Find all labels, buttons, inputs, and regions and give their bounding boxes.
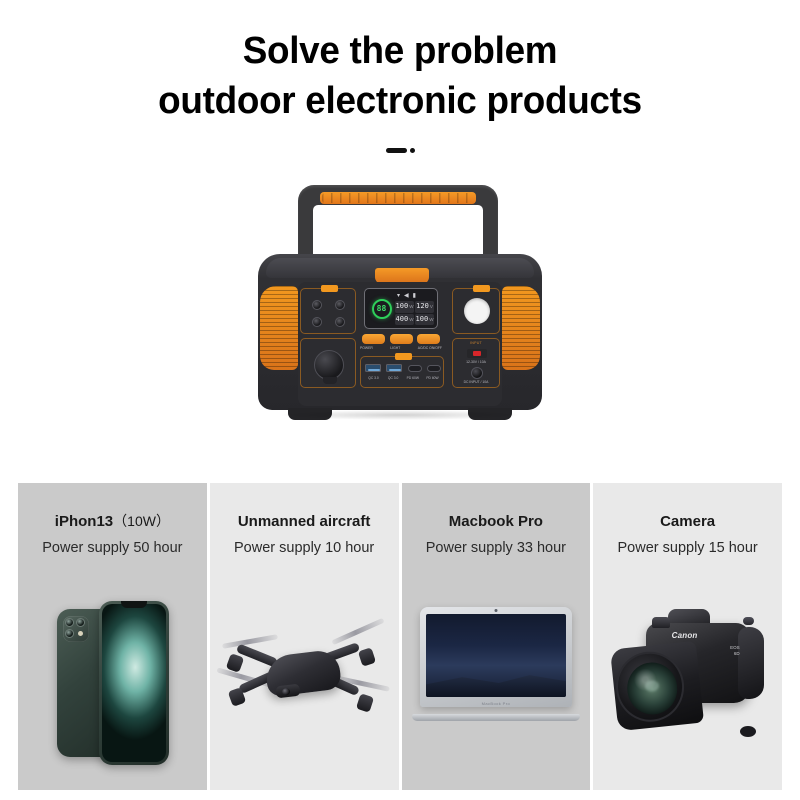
card-subtitle: Power supply 33 hour: [402, 540, 591, 557]
flash-icon: [78, 631, 83, 636]
portable-power-station-image: 88 ▾ ◀ ▮ 100 W: [258, 182, 542, 422]
laptop-image: MacBook Pro: [412, 607, 580, 725]
device-card-camera[interactable]: Camera Power supply 15 hour Canon EOS 6D: [593, 483, 782, 790]
port-label: PD 60W: [404, 376, 421, 380]
drone-motor: [356, 693, 374, 713]
dot-icon: [410, 148, 415, 153]
phone-front: [99, 601, 169, 765]
webcam-icon: [494, 609, 497, 612]
card-title: iPhon13（10W）: [18, 513, 207, 531]
card-art: [210, 575, 399, 790]
card-title: Camera: [593, 513, 782, 531]
gimbal-camera-icon: [275, 684, 300, 699]
drone-motor: [358, 647, 376, 667]
readout-value: 120: [416, 303, 429, 310]
card-title: Macbook Pro: [402, 513, 591, 531]
readout-cell: 100 W: [415, 314, 434, 326]
camera-grip: [738, 627, 764, 699]
card-subtitle: Power supply 15 hour: [593, 540, 782, 557]
laptop-wordmark: MacBook Pro: [420, 701, 572, 706]
battery-percent-value: 88: [377, 305, 387, 313]
card-title: Unmanned aircraft: [210, 513, 399, 531]
camera-module-icon: [63, 616, 89, 642]
ac-socket-icon: [464, 298, 490, 324]
lens-ring: [612, 648, 687, 725]
laptop-lid: MacBook Pro: [420, 607, 572, 707]
shutter-button-icon: [743, 617, 754, 625]
display-status-icons: ▾ ◀ ▮: [395, 292, 434, 300]
drone-image: [214, 615, 394, 740]
card-title-text: Camera: [660, 513, 715, 530]
device-shadow: [282, 410, 518, 420]
dc-jack-icon: [312, 317, 322, 327]
usb-port-panel: QC 3.0 QC 3.0 PD 60W PD 60W: [360, 356, 444, 388]
hero-product-section: 88 ▾ ◀ ▮ 100 W: [0, 182, 800, 432]
input-jack-label: DC INPUT / 10A: [453, 380, 499, 384]
power-button-label: POWER: [360, 346, 373, 350]
ac-icon: ◀: [404, 293, 409, 299]
card-art: [18, 575, 207, 790]
readout-unit: W: [429, 317, 433, 322]
lens-highlight: [644, 680, 659, 692]
usb-a-port-icon: [365, 364, 381, 372]
power-switch-icon: [467, 349, 487, 358]
camera-lens-icon: [76, 618, 85, 627]
card-subtitle: Power supply 10 hour: [210, 540, 399, 557]
headline-line-1: Solve the problem: [12, 26, 788, 76]
card-title-text: Macbook Pro: [449, 513, 543, 530]
card-title-suffix: （10W）: [113, 513, 170, 529]
button-row: [362, 334, 440, 346]
display-readouts: 100 W 120 V 400 W: [395, 301, 434, 325]
camera-brand-label: Canon: [672, 631, 698, 640]
device-card-drone[interactable]: Unmanned aircraft Power supply 10 hour: [210, 483, 399, 790]
dc-input-jack-icon: [471, 367, 483, 379]
usb-port-labels: QC 3.0 QC 3.0 PD 60W PD 60W: [365, 376, 441, 380]
card-art: Canon EOS 6D: [593, 575, 782, 790]
battery-gauge: 88: [368, 292, 395, 325]
port-label: PD 60W: [424, 376, 441, 380]
dc-jack-icon: [335, 300, 345, 310]
page-headline: Solve the problem outdoor electronic pro…: [0, 0, 800, 126]
camera-lens-barrel: [610, 641, 704, 732]
ac-dc-button[interactable]: [417, 334, 440, 344]
dc-jack-icon: [312, 300, 322, 310]
readout-unit: V: [430, 304, 433, 309]
light-button-label: LIGHT: [390, 346, 400, 350]
propeller-icon: [332, 618, 385, 645]
dslr-camera-image: Canon EOS 6D: [606, 601, 770, 751]
readout-value: 100: [416, 316, 429, 323]
control-face: 88 ▾ ◀ ▮ 100 W: [298, 282, 502, 406]
usb-c-port-icon: [427, 365, 441, 372]
input-switch-label: 12-30V / 10A: [453, 360, 499, 364]
camera-lens-icon: [65, 629, 74, 638]
device-card-iphone[interactable]: iPhon13（10W） Power supply 50 hour: [18, 483, 207, 790]
camera-port-cover: [740, 726, 756, 737]
port-label: QC 3.0: [365, 376, 382, 380]
dc-output-panel: [300, 288, 356, 334]
usb-ports: [365, 364, 441, 372]
usb-a-port-icon: [386, 364, 402, 372]
input-panel: INPUT 12-30V / 10A DC INPUT / 10A: [452, 338, 500, 388]
battery-icon: ▮: [413, 293, 416, 299]
ac-outlet-panel: [452, 288, 500, 334]
camera-model-label: EOS 6D: [730, 645, 740, 657]
camera-model-line-1: EOS: [730, 645, 740, 650]
ac-dc-button-label: AC/DC ON/OFF: [418, 346, 442, 350]
compatible-devices-row: iPhon13（10W） Power supply 50 hour: [18, 483, 782, 790]
cigarette-socket-icon: [314, 350, 344, 380]
signal-icon: ▾: [397, 293, 400, 299]
handle-grip: [320, 192, 476, 204]
card-subtitle: Power supply 50 hour: [18, 540, 207, 557]
port-label: QC 3.0: [385, 376, 402, 380]
readout-unit: W: [409, 317, 413, 322]
button-labels: POWER LIGHT AC/DC ON/OFF: [360, 346, 442, 350]
lens-glass-icon: [624, 660, 679, 717]
readout-unit: W: [409, 304, 413, 309]
readout-value: 400: [396, 316, 409, 323]
smartphone-image: [51, 599, 173, 767]
cigarette-socket-panel: [300, 338, 356, 388]
right-vent-icon: [502, 286, 540, 370]
panel-tab: [321, 285, 338, 292]
readout-cell: 100 W: [395, 301, 414, 313]
lcd-display: 88 ▾ ◀ ▮ 100 W: [364, 288, 438, 329]
mode-dial-icon: [652, 617, 670, 628]
power-button[interactable]: [362, 334, 385, 344]
card-title-text: iPhon13: [55, 513, 113, 530]
input-panel-title: INPUT: [453, 341, 499, 345]
dc-jack-icon: [335, 317, 345, 327]
panel-tab: [395, 353, 412, 360]
left-vent-icon: [260, 286, 298, 370]
laptop-base: [412, 714, 580, 721]
card-title-text: Unmanned aircraft: [238, 513, 371, 530]
headline-line-2: outdoor electronic products: [12, 76, 788, 126]
readout-value: 100: [396, 303, 409, 310]
laptop-screen: [426, 614, 566, 697]
notch-icon: [121, 601, 147, 608]
headline-divider-ornament: [0, 148, 800, 153]
propeller-icon: [222, 634, 278, 649]
camera-lens-icon: [65, 618, 74, 627]
dash-icon: [386, 148, 407, 153]
device-card-macbook[interactable]: Macbook Pro Power supply 33 hour MacBook…: [402, 483, 591, 790]
light-button[interactable]: [390, 334, 413, 344]
panel-tab: [473, 285, 490, 292]
card-art: MacBook Pro: [402, 575, 591, 790]
usb-c-port-icon: [408, 365, 422, 372]
gauge-ring-icon: 88: [372, 299, 392, 319]
readout-cell: 120 V: [415, 301, 434, 313]
camera-model-line-2: 6D: [734, 651, 740, 656]
readout-cell: 400 W: [395, 314, 414, 326]
phone-screen: [102, 604, 166, 762]
